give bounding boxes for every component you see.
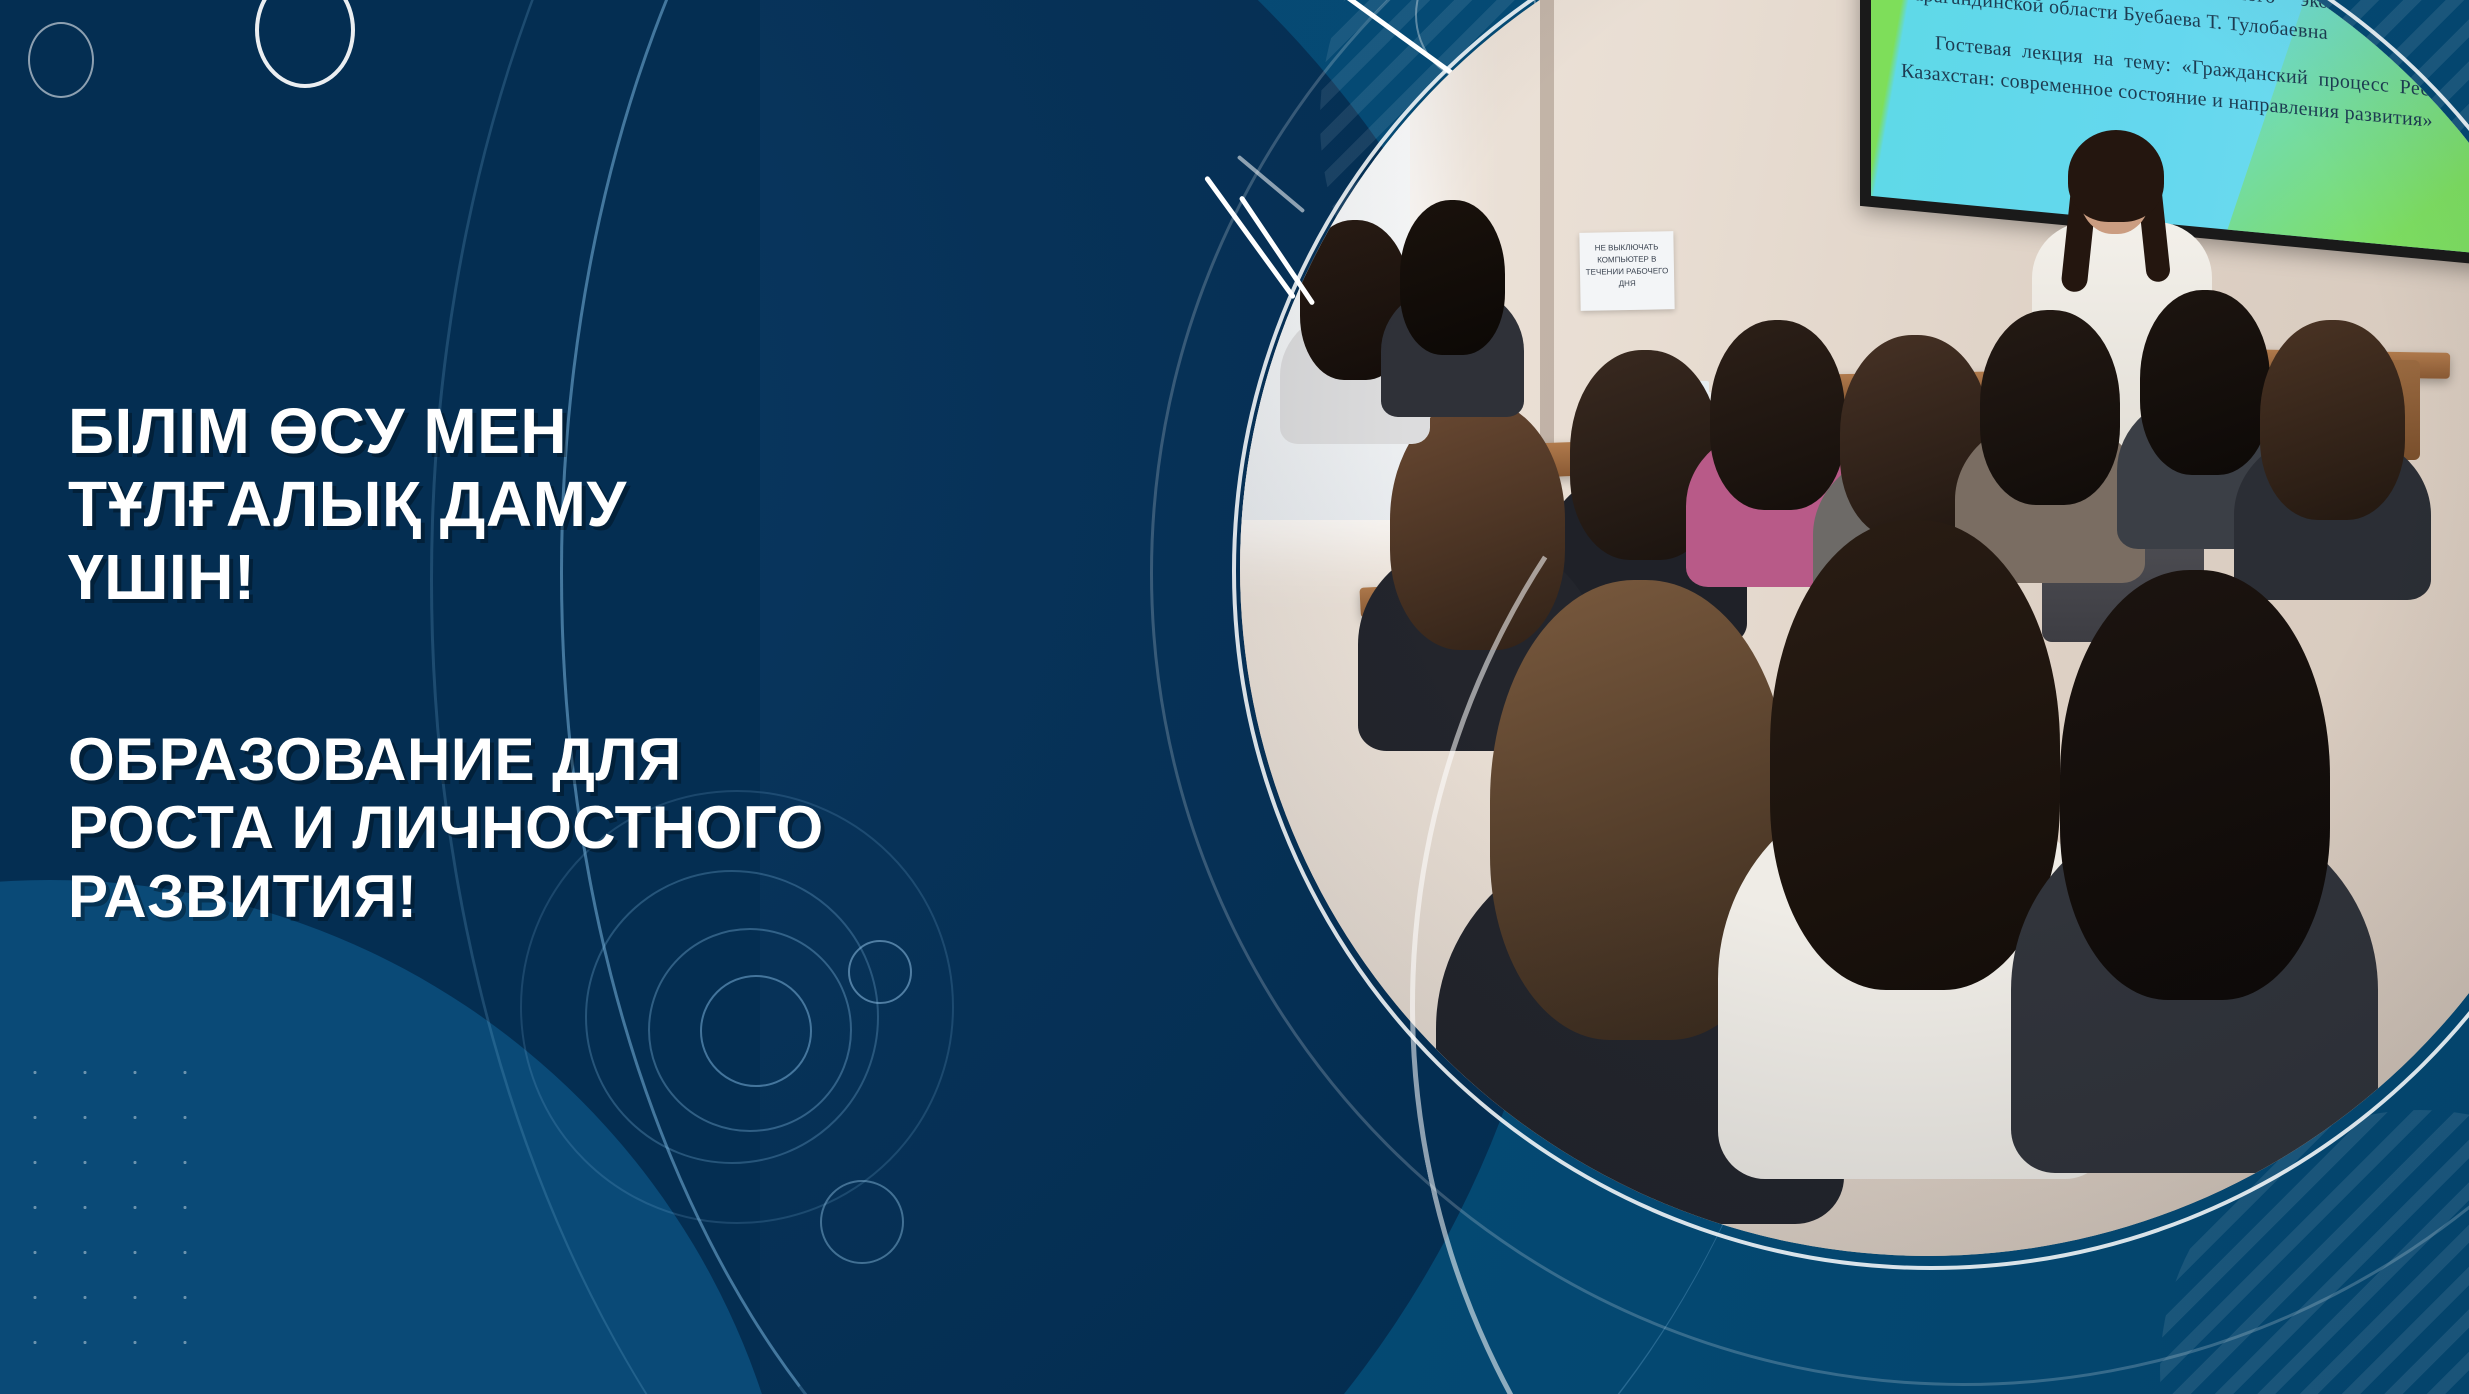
headline-block: БІЛІМ ӨСУ МЕН ТҰЛҒАЛЫҚ ДАМУ ҮШІН! ОБРАЗО…: [68, 395, 888, 931]
dot-grid-bottom-left: [10, 1050, 215, 1380]
ring-small-topleft-icon: [28, 22, 94, 98]
poster-canvas: Председатель Специализированного экономи…: [0, 0, 2469, 1394]
headline-kazakh: БІЛІМ ӨСУ МЕН ТҰЛҒАЛЫҚ ДАМУ ҮШІН!: [68, 395, 888, 614]
headline-russian: ОБРАЗОВАНИЕ ДЛЯ РОСТА И ЛИЧНОСТНОГО РАЗВ…: [68, 726, 888, 931]
